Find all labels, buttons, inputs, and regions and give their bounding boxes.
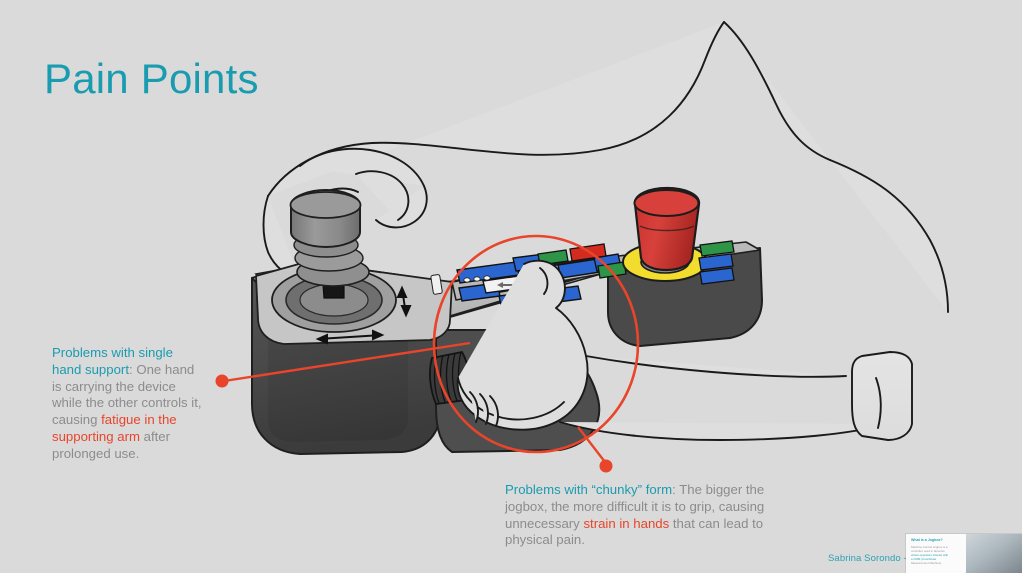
callout-bottom-highlight: strain in hands	[583, 516, 669, 531]
slide-thumbnail-overlay[interactable]: What is a Jogbox? Machine Control Jogbox…	[906, 534, 1022, 573]
slide-canvas: Pain Points	[0, 0, 1022, 573]
thumbnail-body: Machine Control Jogbox is a controller u…	[911, 545, 963, 565]
thumbnail-photo	[966, 534, 1022, 573]
leader-bottom	[578, 427, 613, 473]
thumbnail-title: What is a Jogbox?	[911, 538, 963, 543]
chunky-form-callout: Problems with “chunky” form: The bigger …	[505, 482, 770, 549]
single-hand-support-callout: Problems with single hand support: One h…	[52, 345, 204, 463]
keypad-right[interactable]	[699, 241, 734, 284]
thumbnail-text-pane: What is a Jogbox? Machine Control Jogbox…	[906, 534, 966, 573]
callout-bottom-lead: Problems with “chunky” form	[505, 482, 672, 497]
emergency-stop[interactable]	[623, 188, 707, 281]
thumbnail-body-line-5: Measurement Machine)	[911, 561, 963, 565]
